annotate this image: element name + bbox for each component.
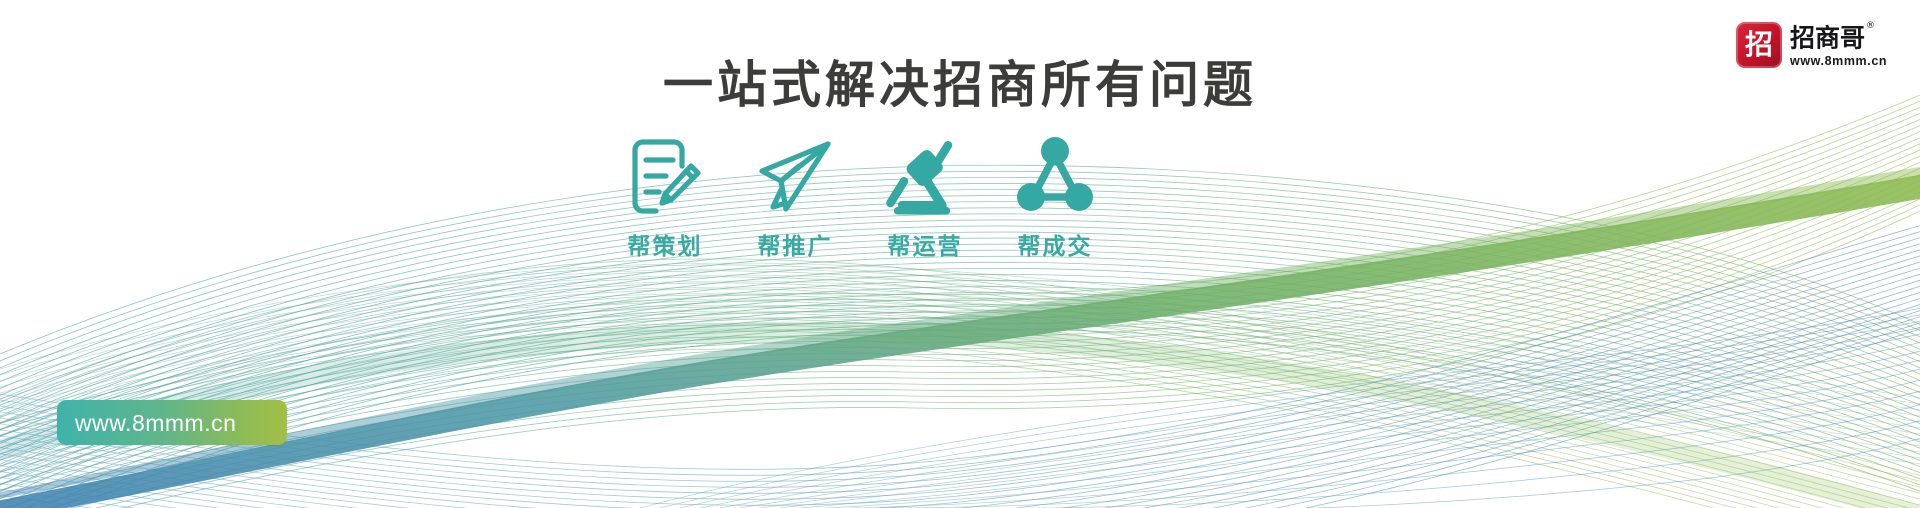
feature-item-operations[interactable]: 帮运营: [870, 132, 980, 260]
feature-label: 帮策划: [628, 234, 703, 260]
gavel-icon: [883, 132, 967, 218]
paper-plane-icon: [753, 132, 837, 218]
feature-label: 帮推广: [758, 234, 833, 260]
feature-label: 帮成交: [1018, 234, 1093, 260]
feature-label: 帮运营: [888, 234, 963, 260]
website-url-badge[interactable]: www.8mmm.cn: [57, 400, 287, 445]
feature-row: 帮策划 帮推广: [610, 132, 1110, 260]
network-share-icon: [1013, 132, 1097, 218]
feature-item-planning[interactable]: 帮策划: [610, 132, 720, 260]
promo-banner: 招 招商哥® www.8mmm.cn 一站式解决招商所有问题: [0, 0, 1920, 508]
registered-trademark-icon: ®: [1866, 21, 1875, 31]
feature-item-promotion[interactable]: 帮推广: [740, 132, 850, 260]
brand-name-label: 招商哥: [1790, 23, 1865, 52]
brand-name: 招商哥®: [1790, 22, 1887, 51]
page-title: 一站式解决招商所有问题: [0, 53, 1920, 117]
feature-item-closing[interactable]: 帮成交: [1000, 132, 1110, 260]
website-url-label: www.8mmm.cn: [57, 411, 236, 435]
document-pencil-icon: [625, 132, 705, 218]
